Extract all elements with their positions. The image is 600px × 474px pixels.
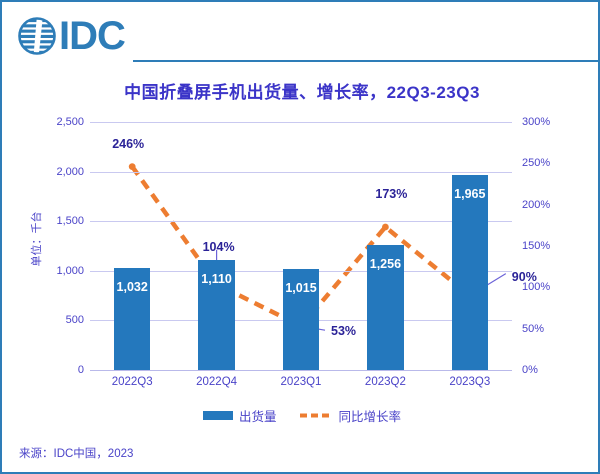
y-axis-tick-left: 1,000 bbox=[38, 265, 84, 277]
y-axis-tick-left: 2,500 bbox=[38, 116, 84, 128]
bar-value-label: 1,965 bbox=[454, 187, 485, 201]
source-note: 来源：IDC中国，2023 bbox=[19, 445, 133, 461]
gridline bbox=[90, 122, 512, 123]
y-axis-tick-left: 2,000 bbox=[38, 166, 84, 178]
gridline bbox=[90, 172, 512, 173]
chart-legend: 出货量 同比增长率 bbox=[2, 406, 600, 425]
bar-value-label: 1,256 bbox=[370, 257, 401, 271]
x-axis-label: 2023Q2 bbox=[365, 376, 406, 388]
x-axis-label: 2023Q3 bbox=[449, 376, 490, 388]
y-axis-tick-right: 0% bbox=[522, 364, 572, 376]
gridline bbox=[90, 370, 512, 371]
growth-value-label: 173% bbox=[375, 187, 407, 201]
x-axis-label: 2022Q4 bbox=[196, 376, 237, 388]
bar-value-label: 1,110 bbox=[201, 272, 232, 286]
x-axis-label: 2022Q3 bbox=[112, 376, 153, 388]
idc-logo: IDC bbox=[16, 12, 125, 60]
logo-text: IDC bbox=[59, 16, 125, 56]
y-axis-tick-left: 500 bbox=[38, 314, 84, 326]
y-axis-tick-right: 250% bbox=[522, 157, 572, 169]
chart-card: IDC 中国折叠屏手机出货量、增长率，22Q3-23Q3 1,0321,1101… bbox=[0, 0, 600, 474]
legend-item-shipments: 出货量 bbox=[203, 406, 277, 425]
chart-area: 1,0321,1101,0151,2561,9652022Q32022Q4202… bbox=[2, 110, 600, 400]
x-axis-label: 2023Q1 bbox=[281, 376, 322, 388]
growth-value-label: 246% bbox=[112, 137, 144, 151]
legend-item-growth: 同比增长率 bbox=[299, 406, 402, 425]
y-axis-tick-right: 300% bbox=[522, 116, 572, 128]
globe-icon bbox=[16, 15, 58, 57]
y-axis-tick-right: 100% bbox=[522, 281, 572, 293]
legend-label-shipments: 出货量 bbox=[239, 406, 277, 425]
bar-value-label: 1,032 bbox=[117, 280, 148, 294]
growth-value-label: 53% bbox=[331, 324, 356, 338]
y-axis-title: 单位：千台 bbox=[28, 211, 44, 266]
chart-title: 中国折叠屏手机出货量、增长率，22Q3-23Q3 bbox=[2, 78, 600, 103]
plot-area: 1,0321,1101,0151,2561,9652022Q32022Q4202… bbox=[90, 122, 512, 370]
gridline bbox=[90, 221, 512, 222]
legend-label-growth: 同比增长率 bbox=[339, 406, 402, 425]
y-axis-tick-right: 200% bbox=[522, 199, 572, 211]
bar-value-label: 1,015 bbox=[285, 281, 316, 295]
y-axis-tick-left: 1,500 bbox=[38, 215, 84, 227]
y-axis-tick-left: 0 bbox=[38, 364, 84, 376]
header-rule bbox=[133, 60, 600, 62]
growth-value-label: 104% bbox=[203, 240, 235, 254]
y-axis-tick-right: 50% bbox=[522, 323, 572, 335]
bar bbox=[452, 175, 488, 370]
y-axis-tick-right: 150% bbox=[522, 240, 572, 252]
legend-swatch-dashed-line bbox=[299, 411, 333, 420]
legend-swatch-bar bbox=[203, 411, 233, 420]
